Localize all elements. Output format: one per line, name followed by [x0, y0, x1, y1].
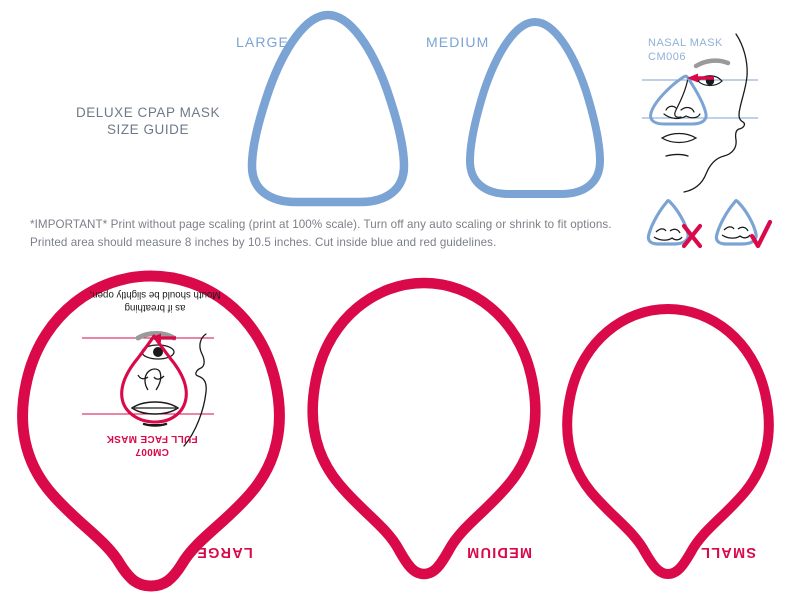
mouth — [662, 134, 696, 143]
fit-icon-correct — [714, 196, 776, 250]
nasal-size-label-large: LARGE — [236, 34, 289, 50]
nasal-reference-label: NASAL MASK CM006 — [648, 36, 723, 64]
incorrect-fit-icon — [646, 196, 708, 250]
fullface-size-label-large: LARGE — [196, 544, 253, 560]
fullface-reference-title: FULL FACE MASK — [96, 432, 208, 445]
print-instructions: *IMPORTANT* Print without page scaling (… — [30, 216, 630, 251]
nasal-size-label-medium: MEDIUM — [426, 34, 489, 50]
fit-icon-incorrect — [646, 196, 708, 250]
x-mark — [684, 226, 700, 246]
fullface-mask-outline-medium — [300, 276, 548, 588]
nasal-reference-code: CM006 — [648, 50, 723, 64]
fullface-template-medium — [300, 276, 548, 588]
correct-fit-icon — [714, 196, 776, 250]
fullface-reference-label: CM007 FULL FACE MASK — [96, 432, 208, 458]
instructions-line-1: *IMPORTANT* Print without page scaling (… — [30, 216, 630, 234]
nose — [675, 78, 688, 117]
fullface-mouth-note: as if breathing Mouth should be slightly… — [80, 288, 230, 314]
nasal-reference-title: NASAL MASK — [648, 36, 723, 50]
fullface-note-line-2: as if breathing — [80, 301, 230, 314]
page-title-line-2: SIZE GUIDE — [48, 121, 248, 138]
fullface-note-line-1: Mouth should be slightly open, — [80, 288, 230, 301]
fullface-size-label-small: SMALL — [700, 544, 756, 560]
page-title-line-1: DELUXE CPAP MASK — [48, 104, 248, 121]
instructions-line-2: Printed area should measure 8 inches by … — [30, 234, 630, 252]
fullface-size-label-medium: MEDIUM — [466, 544, 532, 560]
fullface-reference-code: CM007 — [96, 445, 208, 458]
page-title: DELUXE CPAP MASK SIZE GUIDE — [48, 104, 248, 138]
